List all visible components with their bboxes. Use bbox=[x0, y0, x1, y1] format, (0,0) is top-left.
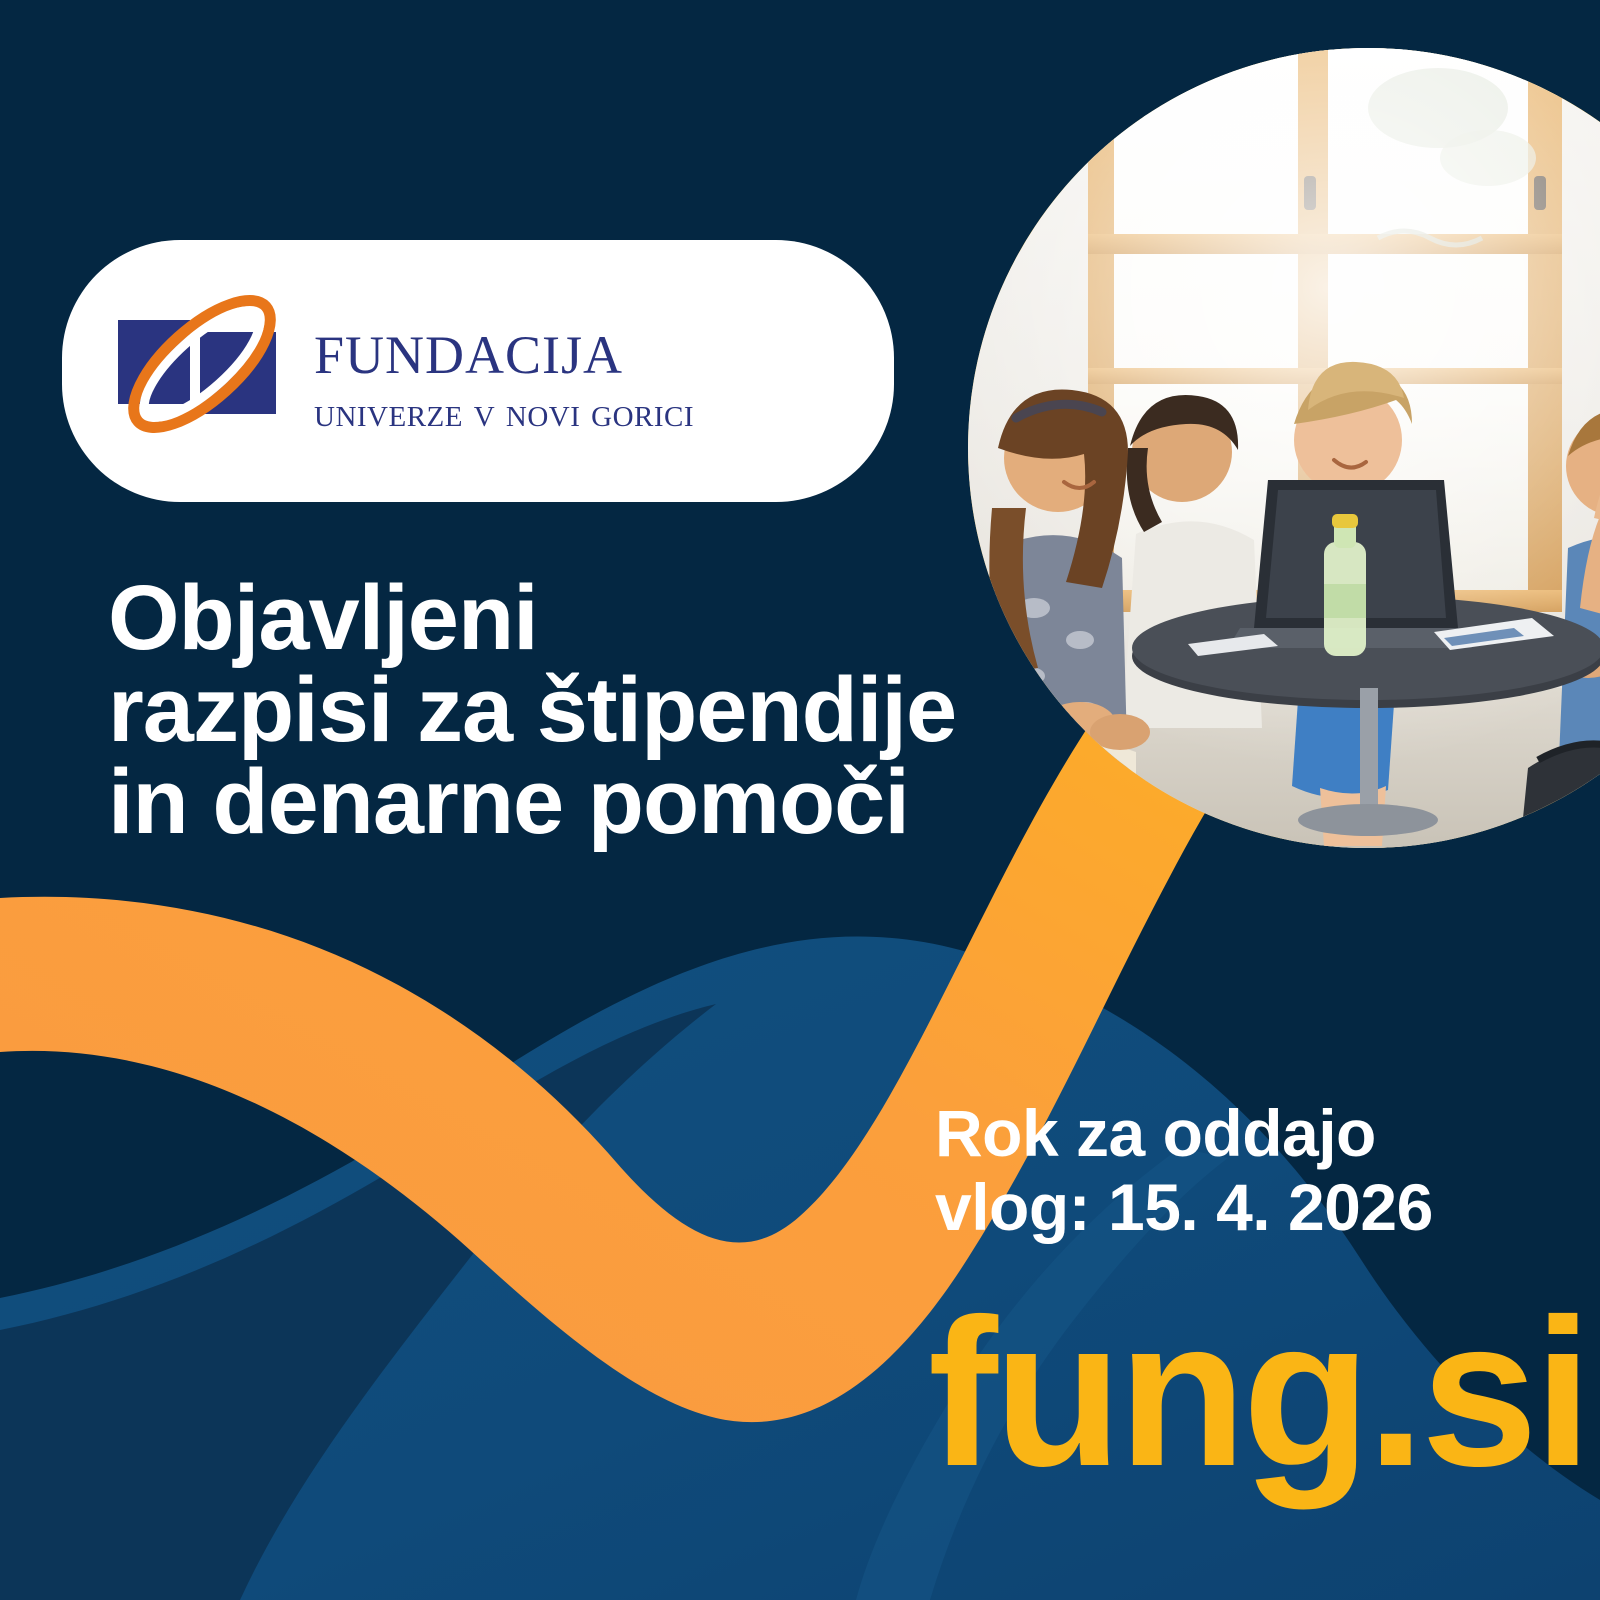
logo-title: Fundacija bbox=[314, 309, 694, 386]
students-photo bbox=[968, 48, 1600, 848]
deadline-line-1: Rok za oddajo bbox=[935, 1097, 1535, 1171]
fung-si-brand[interactable]: fung.si bbox=[928, 1288, 1588, 1498]
fundacija-logo-card: Fundacija Univerze v Novi Gorici bbox=[62, 240, 894, 502]
photo-illustration bbox=[968, 48, 1600, 848]
headline-line-2: razpisi za štipendije bbox=[108, 664, 988, 756]
promo-poster: Fundacija Univerze v Novi Gorici Objavlj… bbox=[0, 0, 1600, 1600]
fundacija-logo-mark-icon bbox=[114, 294, 290, 448]
logo-subtitle: Univerze v Novi Gorici bbox=[314, 392, 694, 433]
headline-line-3: in denarne pomoči bbox=[108, 756, 988, 848]
logo-wordmark: Fundacija Univerze v Novi Gorici bbox=[314, 309, 694, 433]
deadline-line-2: vlog: 15. 4. 2026 bbox=[935, 1171, 1535, 1245]
headline-line-1: Objavljeni bbox=[108, 572, 988, 664]
headline: Objavljeni razpisi za štipendije in dena… bbox=[108, 572, 988, 848]
deadline-text: Rok za oddajo vlog: 15. 4. 2026 bbox=[935, 1097, 1535, 1245]
